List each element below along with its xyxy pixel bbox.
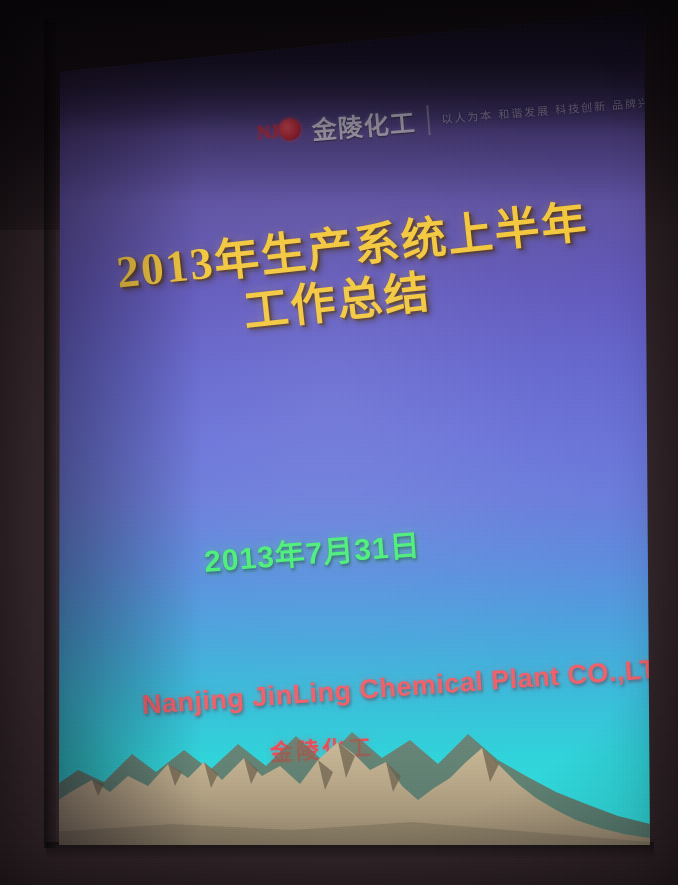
- logo-nj-letters: NJ: [256, 121, 279, 145]
- logo-company-name-cn: 金陵化工: [310, 103, 417, 147]
- mountain-silhouette-icon: [52, 692, 650, 852]
- logo-divider: [426, 105, 430, 135]
- slide-title: 2013年生产系统上半年 工作总结: [104, 192, 632, 354]
- projection-screen-wrap: NJ 金陵化工 以人为本 和谐发展 科技创新 品牌兴企 2013年生产系统上半年…: [0, 0, 678, 885]
- projection-screen: NJ 金陵化工 以人为本 和谐发展 科技创新 品牌兴企 2013年生产系统上半年…: [52, 12, 650, 852]
- presentation-slide: NJ 金陵化工 以人为本 和谐发展 科技创新 品牌兴企 2013年生产系统上半年…: [52, 12, 650, 852]
- logo-red-dot-icon: [278, 118, 302, 142]
- photo-stage: NJ 金陵化工 以人为本 和谐发展 科技创新 品牌兴企 2013年生产系统上半年…: [0, 0, 678, 885]
- slide-date: 2013年7月31日: [202, 520, 422, 581]
- nj-monogram-icon: NJ: [256, 115, 304, 149]
